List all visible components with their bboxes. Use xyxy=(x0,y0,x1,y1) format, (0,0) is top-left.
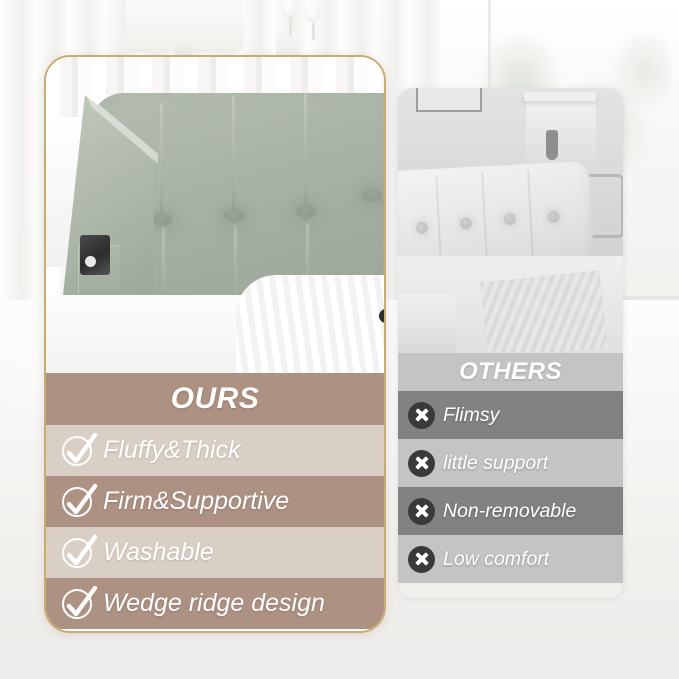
x-circle-icon xyxy=(408,546,435,573)
ours-feature-row: Washable xyxy=(46,527,384,578)
ours-feature-row: Firm&Supportive xyxy=(46,476,384,527)
pillow-seam xyxy=(304,93,307,221)
others-comparison-card: OTHERS Flimsy little support Non-removab… xyxy=(398,88,623,598)
ours-feature-label: Washable xyxy=(103,538,214,567)
cushion-tuft xyxy=(503,213,516,226)
x-circle-icon xyxy=(408,498,435,525)
background-flower-bloom xyxy=(305,6,320,23)
others-photo-shelf xyxy=(524,92,596,101)
others-feature-label: Flimsy xyxy=(443,404,499,427)
x-circle-icon xyxy=(408,450,435,477)
others-feature-label: little support xyxy=(443,452,548,475)
others-photo-nightstand xyxy=(398,294,456,353)
comparison-infographic: OTHERS Flimsy little support Non-removab… xyxy=(0,0,679,679)
pillow-tuft xyxy=(362,189,382,202)
others-feature-label: Low comfort xyxy=(443,548,549,571)
others-feature-row: Low comfort xyxy=(398,535,623,583)
cushion-seam xyxy=(527,170,534,270)
background-lamp-shade xyxy=(126,0,244,52)
ours-feature-row: Fluffy&Thick xyxy=(46,425,384,476)
pillow-tuft xyxy=(296,205,316,218)
cushion-tuft xyxy=(547,210,560,223)
others-feature-list: Flimsy little support Non-removable Low … xyxy=(398,391,623,583)
ours-feature-row: Wedge ridge design xyxy=(46,578,384,629)
cushion-tuft xyxy=(416,221,429,234)
ours-header: OURS xyxy=(46,373,384,425)
check-circle-icon xyxy=(62,589,92,619)
check-circle-icon xyxy=(62,538,92,568)
others-feature-row: Non-removable xyxy=(398,487,623,535)
others-photo-throw-blanket xyxy=(480,270,607,353)
ours-photo-duvet xyxy=(236,275,384,373)
others-feature-label: Non-removable xyxy=(443,500,576,523)
ours-title: OURS xyxy=(171,382,260,416)
ours-comparison-card: OURS Fluffy&Thick Firm&Supportive xyxy=(44,55,386,633)
others-feature-row: little support xyxy=(398,439,623,487)
pillow-seam xyxy=(160,103,163,223)
others-feature-row: Flimsy xyxy=(398,391,623,439)
phone-in-pocket xyxy=(80,235,110,275)
others-title: OTHERS xyxy=(459,358,562,386)
pillow-tuft xyxy=(152,213,172,226)
check-circle-icon xyxy=(62,436,92,466)
pillow-tuft xyxy=(224,209,244,222)
others-photo-picture-frame xyxy=(416,88,482,112)
others-header: OTHERS xyxy=(398,353,623,391)
ours-feature-label: Wedge ridge design xyxy=(103,589,325,618)
ours-feature-list: Fluffy&Thick Firm&Supportive Washable xyxy=(46,425,384,629)
x-circle-icon xyxy=(408,402,435,429)
others-photo-alcove xyxy=(526,98,596,168)
check-circle-icon xyxy=(62,487,92,517)
ours-feature-label: Fluffy&Thick xyxy=(103,436,241,465)
cushion-tuft xyxy=(460,217,473,230)
others-product-photo xyxy=(398,88,623,353)
ours-feature-label: Firm&Supportive xyxy=(103,487,289,516)
pillow-seam xyxy=(232,95,235,223)
others-photo-vase xyxy=(546,130,558,160)
ours-product-photo xyxy=(46,57,384,373)
